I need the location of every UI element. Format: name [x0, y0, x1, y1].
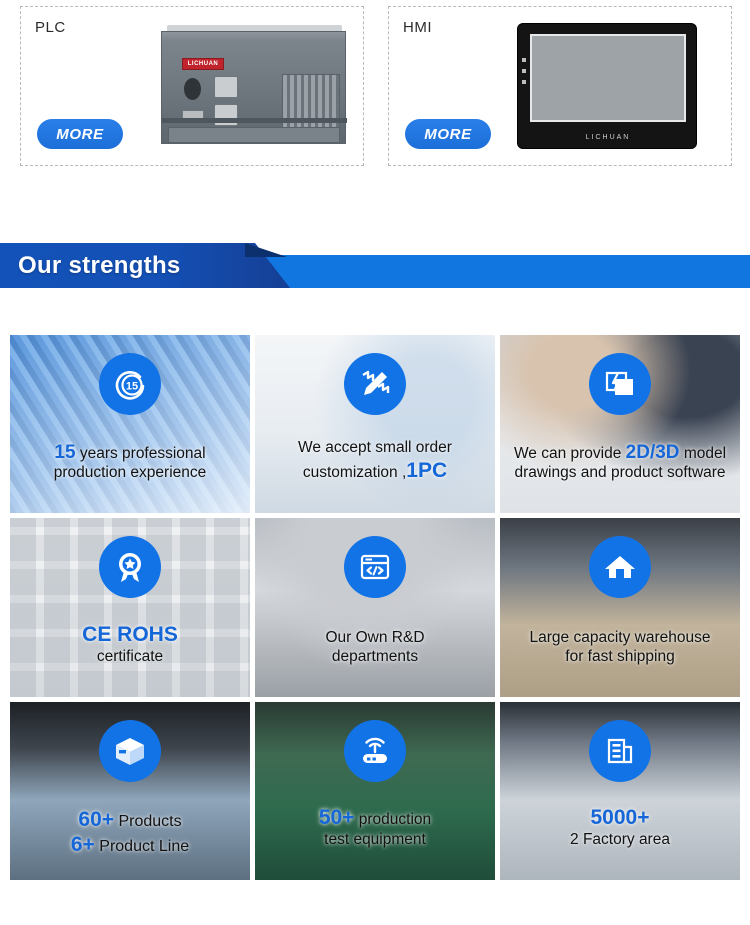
plc-ethernet-port-1 [214, 76, 238, 98]
caption-line1-post: Products [114, 813, 182, 830]
product-card-plc[interactable]: PLC LICHUAN MORE [20, 6, 364, 166]
strengths-grid: 15 15 years professional production expe… [10, 335, 740, 880]
cell-caption: 60+ Products 6+ Product Line [16, 807, 244, 858]
drawing-layers-icon [589, 353, 651, 415]
caption-line1: We accept small order [298, 439, 452, 456]
caption-highlight: 5000+ [591, 806, 650, 829]
product-card-label: PLC [35, 19, 66, 36]
strength-cell-factory-area[interactable]: 5000+ 2 Factory area [500, 702, 740, 880]
caption-line2: 2 Factory area [570, 831, 670, 848]
plc-device-image: LICHUAN [151, 17, 351, 157]
caption-line1-post: years professional [76, 445, 206, 462]
caption-highlight-2: 6+ [71, 833, 95, 856]
caption-line2-pre: customization , [303, 464, 406, 481]
hmi-screen [530, 34, 686, 122]
caption-line2: departments [332, 648, 418, 665]
caption-line2-post: Product Line [95, 838, 189, 855]
product-card-label: HMI [403, 19, 432, 36]
caption-line2: for fast shipping [565, 648, 674, 665]
caption-highlight: 50+ [319, 806, 355, 829]
caption-highlight-1: 60+ [78, 808, 114, 831]
clock-15-icon: 15 [99, 353, 161, 415]
plc-terminal-block [282, 74, 340, 132]
more-button-hmi[interactable]: MORE [405, 119, 491, 149]
cell-caption: We accept small order customization ,1PC [261, 439, 489, 484]
section-title: Our strengths [18, 252, 181, 280]
cell-caption: 15 years professional production experie… [16, 441, 244, 483]
caption-line2: production experience [54, 464, 207, 481]
cell-caption: We can provide 2D/3D model drawings and … [506, 441, 734, 483]
cell-caption: 5000+ 2 Factory area [506, 805, 734, 850]
caption-line2: drawings and product software [514, 464, 725, 481]
product-card-hmi[interactable]: HMI LICHUAN MORE [388, 6, 732, 166]
strength-cell-rd-department[interactable]: Our Own R&D departments [255, 518, 495, 696]
cell-caption: 50+ production test equipment [261, 805, 489, 850]
caption-highlight: CE ROHS [82, 623, 178, 646]
strength-cell-2d3d-drawings[interactable]: We can provide 2D/3D model drawings and … [500, 335, 740, 513]
svg-text:15: 15 [126, 381, 138, 393]
caption-line1-post: model [680, 445, 727, 462]
plc-divider [162, 118, 347, 123]
caption-line1: Our Own R&D [325, 629, 424, 646]
cell-caption: Large capacity warehouse for fast shippi… [506, 629, 734, 667]
strength-cell-warehouse[interactable]: Large capacity warehouse for fast shippi… [500, 518, 740, 696]
router-wifi-icon [344, 720, 406, 782]
house-icon [589, 536, 651, 598]
cell-caption: Our Own R&D departments [261, 629, 489, 667]
cell-caption: CE ROHS certificate [16, 622, 244, 667]
caption-highlight: 1PC [406, 459, 447, 482]
plc-brand-logo: LICHUAN [182, 58, 224, 70]
strength-cell-small-order[interactable]: We accept small order customization ,1PC [255, 335, 495, 513]
pen-customization-icon [344, 353, 406, 415]
caption-highlight: 2D/3D [626, 442, 680, 463]
product-cards-row: PLC LICHUAN MORE HMI LICHUAN [0, 6, 750, 171]
hmi-device-image: LICHUAN [499, 17, 714, 157]
caption-line2: certificate [97, 648, 163, 665]
caption-line1: Large capacity warehouse [530, 629, 711, 646]
hmi-body: LICHUAN [517, 23, 697, 149]
box-icon [99, 720, 161, 782]
award-medal-icon [99, 536, 161, 598]
section-header-our-strengths: Our strengths [0, 243, 750, 288]
caption-line2: test equipment [324, 831, 426, 848]
hmi-status-leds [522, 58, 526, 84]
plc-base [168, 127, 340, 143]
strength-cell-test-equipment[interactable]: 50+ production test equipment [255, 702, 495, 880]
more-button-plc[interactable]: MORE [37, 119, 123, 149]
strength-cell-products-count[interactable]: 60+ Products 6+ Product Line [10, 702, 250, 880]
strength-cell-certificate[interactable]: CE ROHS certificate [10, 518, 250, 696]
caption-highlight: 15 [54, 442, 75, 463]
caption-line1-pre: We can provide [514, 445, 626, 462]
plc-dial [184, 78, 201, 100]
hmi-brand-logo: LICHUAN [518, 134, 698, 141]
building-icon [589, 720, 651, 782]
caption-line1-post: production [354, 811, 431, 828]
strength-cell-years-experience[interactable]: 15 15 years professional production expe… [10, 335, 250, 513]
plc-body: LICHUAN [161, 31, 346, 144]
code-window-icon [344, 536, 406, 598]
